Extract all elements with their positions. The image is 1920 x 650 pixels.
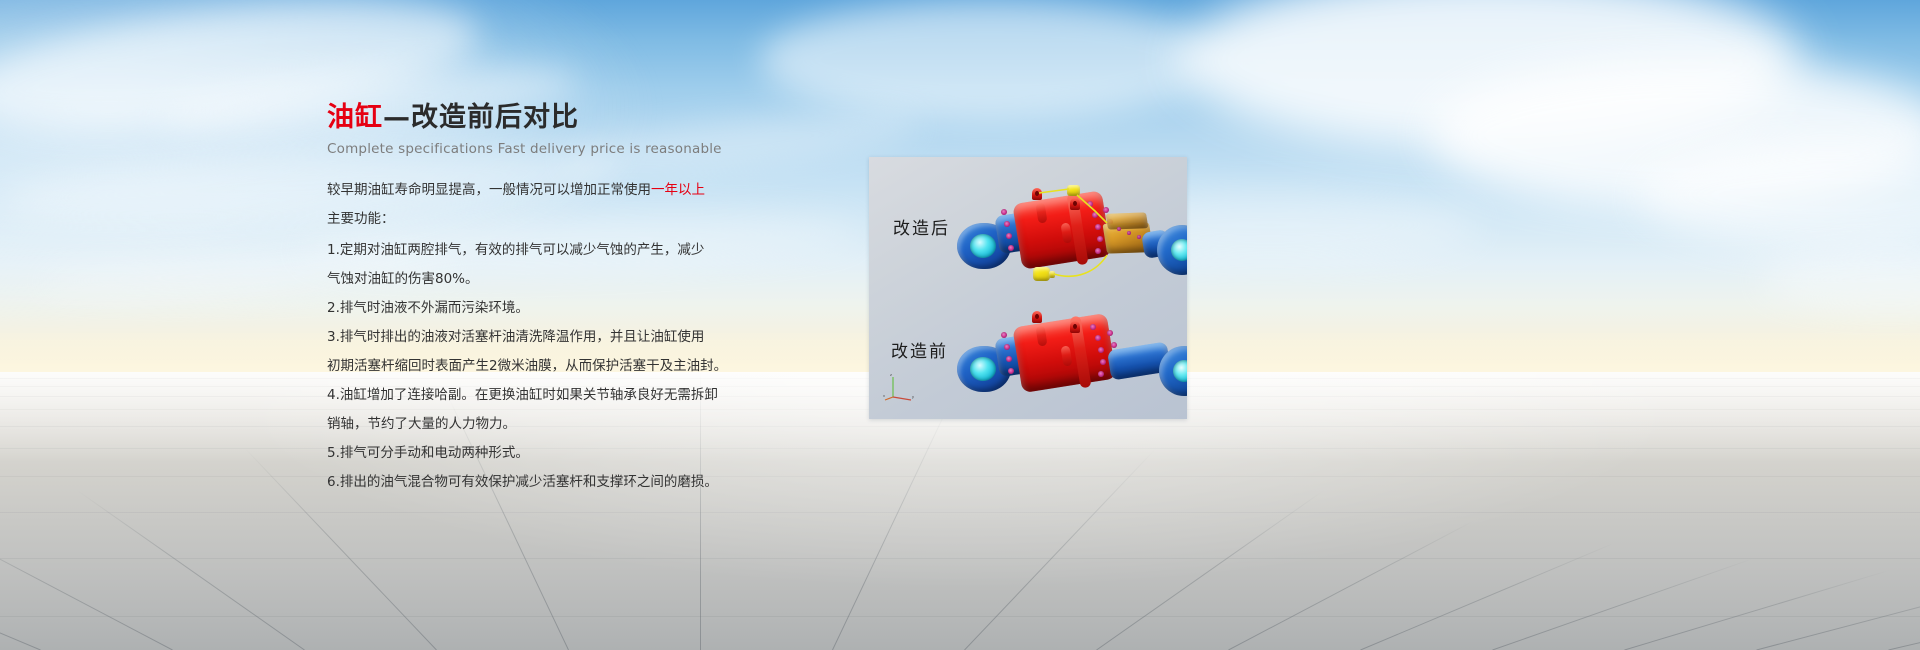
pavement-joint-radial [1756,579,1920,650]
pavement-joint-horizontal [0,426,1920,427]
body-line: 初期活塞杆缩回时表面产生2微米油膜，从而保护活塞干及主油封。 [327,355,757,377]
cloud-puff [1760,250,1920,310]
bolt-head [1098,347,1104,353]
pavement-joint-radial [1492,557,1755,650]
product-image-panel[interactable]: 改造后 改造前 z x y [869,157,1187,419]
bolt-head [1006,356,1012,362]
bleed-tubing [957,179,1187,299]
bolt-head [1004,344,1010,350]
body-line: 1.定期对油缸两腔排气，有效的排气可以减少气蚀的产生，减少 [327,239,757,261]
cloud-puff [760,0,1220,120]
svg-text:y: y [912,394,914,399]
pavement-joint-radial [964,448,1156,650]
eye-bore [970,357,996,381]
bolt-head [1008,368,1014,374]
body-line: 销轴，节约了大量的人力物力。 [327,413,757,435]
bolt-head [1001,332,1007,338]
bolt-head [1111,342,1117,348]
pavement-joint-horizontal [0,616,1920,617]
eye-bore [1173,360,1187,382]
pavement-joint-horizontal [0,558,1920,559]
body-line: 2.排气时油液不外漏而污染环境。 [327,297,757,319]
bolt-head [1095,335,1101,341]
page-title-rest: —改造前后对比 [383,102,579,133]
bolt-head [1090,324,1096,330]
body-line: 5.排气可分手动和电动两种形式。 [327,442,757,464]
label-before-retrofit: 改造前 [891,337,948,362]
body-line: 主要功能： [327,208,757,230]
axis-triad-icon: z x y [883,371,917,401]
bolt-head [1098,371,1104,377]
body-copy: 较早期油缸寿命明显提高，一般情况可以增加正常使用一年以上主要功能：1.定期对油缸… [327,179,757,493]
body-line: 4.油缸增加了连接哈副。在更换油缸时如果关节轴承良好无需拆卸 [327,384,757,406]
body-line: 3.排气时排出的油液对活塞杆油清洗降温作用，并且让油缸使用 [327,326,757,348]
page-title: 油缸—改造前后对比 [327,104,757,132]
svg-text:z: z [890,372,892,377]
body-line: 6.排出的油气混合物可有效保护减少活塞杆和支撑环之间的磨损。 [327,471,757,493]
pavement-joint-horizontal [0,476,1920,477]
lifting-lug [1070,321,1080,333]
body-line-highlight: 一年以上 [651,182,705,198]
svg-text:x: x [883,393,885,398]
body-line: 气蚀对油缸的伤害80%。 [327,268,757,290]
pavement-joint-radial [77,490,305,650]
pavement-joint-radial [1888,586,1920,650]
pavement-joint-radial [1228,520,1474,650]
bolt-head [1107,330,1113,336]
page-subtitle: Complete specifications Fast delivery pr… [327,141,757,157]
banner-stage: 油缸—改造前后对比 Complete specifications Fast d… [0,0,1920,650]
label-after-retrofit: 改造后 [893,214,950,239]
body-line: 较早期油缸寿命明显提高，一般情况可以增加正常使用一年以上 [327,179,757,201]
page-title-highlight: 油缸 [327,102,383,133]
pavement-joint-radial [1624,569,1891,650]
bolt-head [1100,359,1106,365]
lifting-lug [1032,311,1042,323]
text-content: 油缸—改造前后对比 Complete specifications Fast d… [327,104,757,500]
body-line-text: 较早期油缸寿命明显提高，一般情况可以增加正常使用 [327,182,651,198]
pavement-joint-horizontal [0,448,1920,449]
pavement-joint-radial [1096,490,1324,650]
pavement-joint-horizontal [0,512,1920,513]
